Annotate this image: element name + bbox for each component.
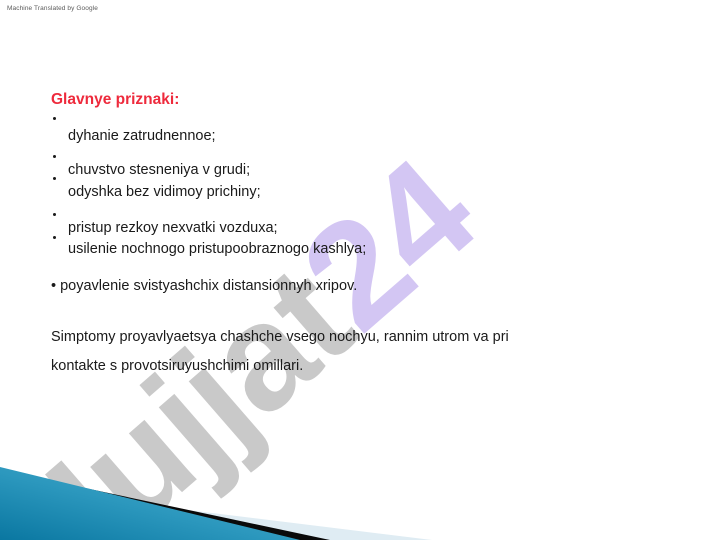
bullet-line-5: usilenie nochnogo pristupoobraznogo kash… bbox=[68, 240, 366, 259]
bullet-dot-3 bbox=[53, 177, 56, 180]
slide-content: Machine Translated by Google Glavnye pri… bbox=[0, 0, 720, 540]
paragraph-line-2: kontakte s provotsiruyushchimi omillari. bbox=[51, 357, 303, 376]
bullet-line-6: • poyavlenie svistyashchix distansionnyh… bbox=[51, 277, 357, 296]
bullet-line-2: chuvstvo stesneniya v grudi; bbox=[68, 161, 250, 180]
slide-canvas: Hujjat24 Machine Translated by Google Gl… bbox=[0, 0, 720, 540]
page-title: Glavnye priznaki: bbox=[51, 91, 179, 109]
bullet-line-3: odyshka bez vidimoy prichiny; bbox=[68, 183, 261, 202]
bullet-dot-1 bbox=[53, 117, 56, 120]
bullet-dot-2 bbox=[53, 155, 56, 158]
machine-translation-banner: Machine Translated by Google bbox=[7, 4, 98, 13]
paragraph-line-1: Simptomy proyavlyaetsya chashche vsego n… bbox=[51, 328, 509, 347]
bullet-dot-5 bbox=[53, 236, 56, 239]
bullet-line-1: dyhanie zatrudnennoe; bbox=[68, 127, 216, 146]
bullet-dot-4 bbox=[53, 213, 56, 216]
bullet-line-4: pristup rezkoy nexvatki vozduxa; bbox=[68, 219, 278, 238]
